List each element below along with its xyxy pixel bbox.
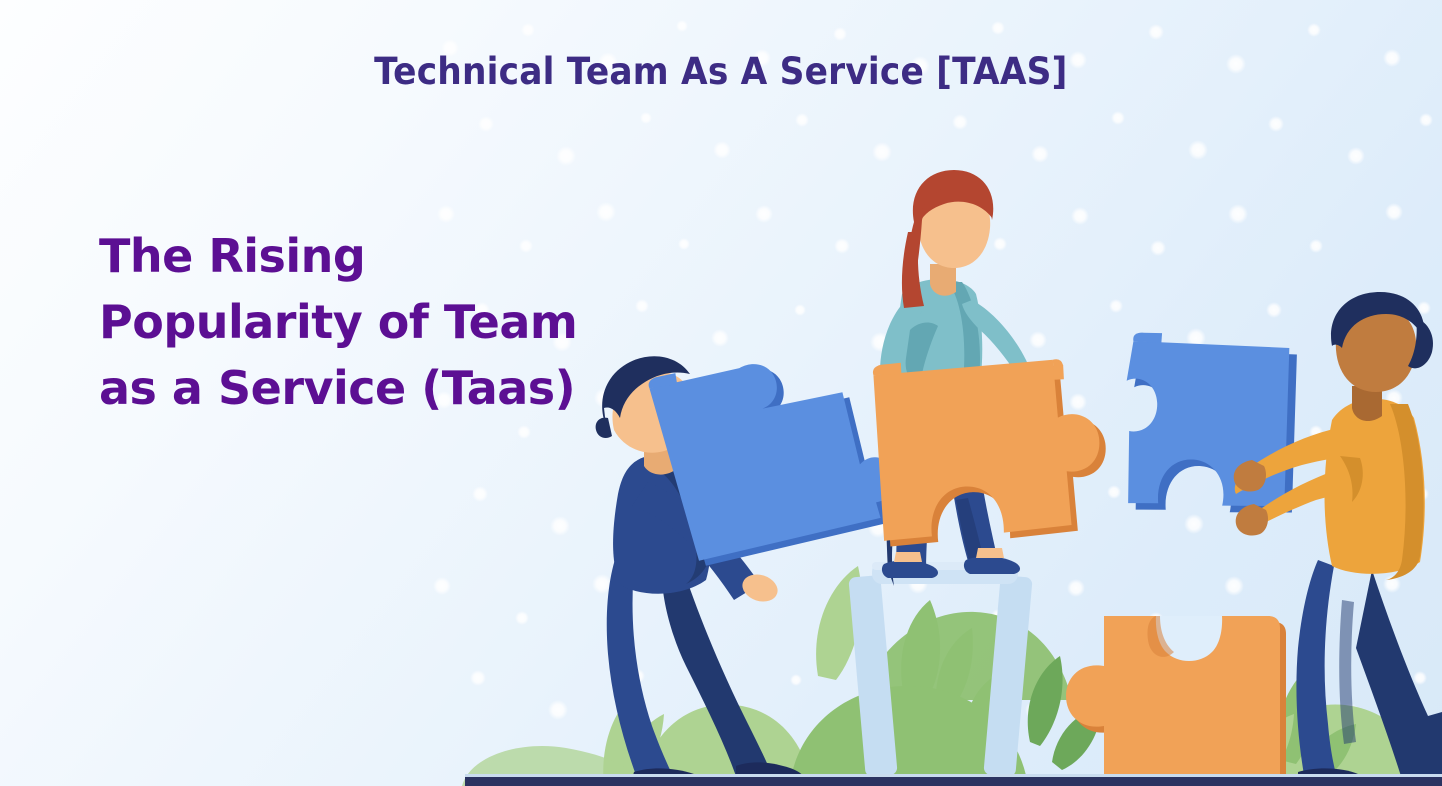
hero-heading-line-3: as a Service (Taas) [99,355,719,421]
hero-banner: Technical Team As A Service [TAAS] The R… [0,0,1442,786]
ground-line [465,777,1442,786]
hero-heading-line-1: The Rising [99,223,719,289]
hero-heading: The Rising Popularity of Team as a Servi… [99,223,719,421]
puzzle-piece-blue-right [1118,331,1304,521]
puzzle-piece-orange-center [873,352,1111,547]
hero-heading-line-2: Popularity of Team [99,289,719,355]
puzzle-piece-orange-bottom [1066,616,1286,786]
